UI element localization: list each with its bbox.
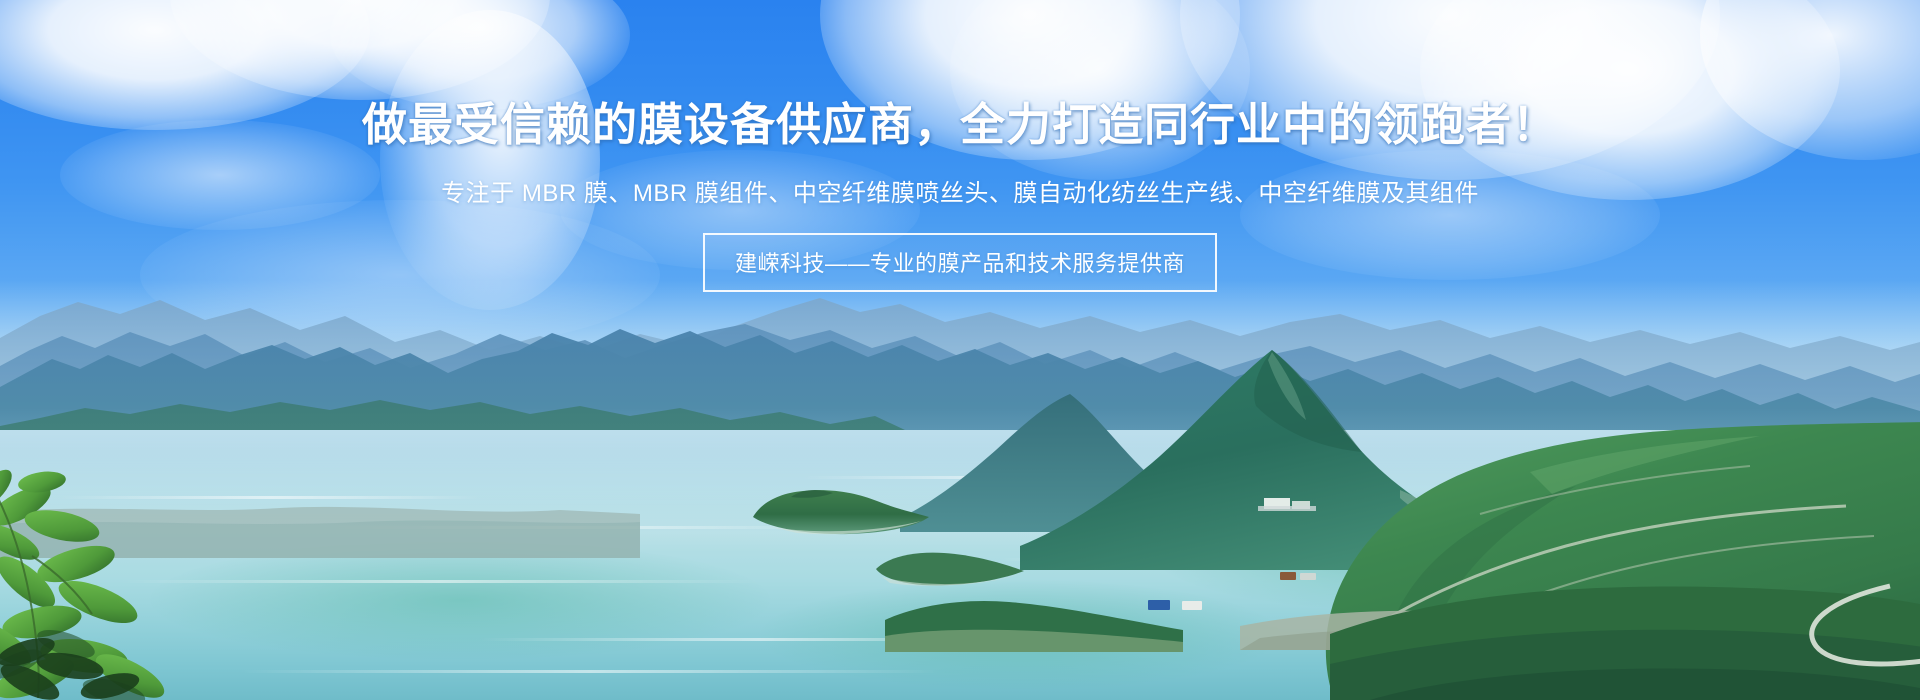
banner-text-layer: 做最受信赖的膜设备供应商，全力打造同行业中的领跑者！ 专注于 MBR 膜、MBR… xyxy=(0,0,1920,700)
banner-tagline-box: 建嵘科技——专业的膜产品和技术服务提供商 xyxy=(703,233,1217,292)
hero-banner: 做最受信赖的膜设备供应商，全力打造同行业中的领跑者！ 专注于 MBR 膜、MBR… xyxy=(0,0,1920,700)
banner-subtitle: 专注于 MBR 膜、MBR 膜组件、中空纤维膜喷丝头、膜自动化纺丝生产线、中空纤… xyxy=(441,173,1479,208)
page-title: 做最受信赖的膜设备供应商，全力打造同行业中的领跑者！ xyxy=(362,100,1558,150)
